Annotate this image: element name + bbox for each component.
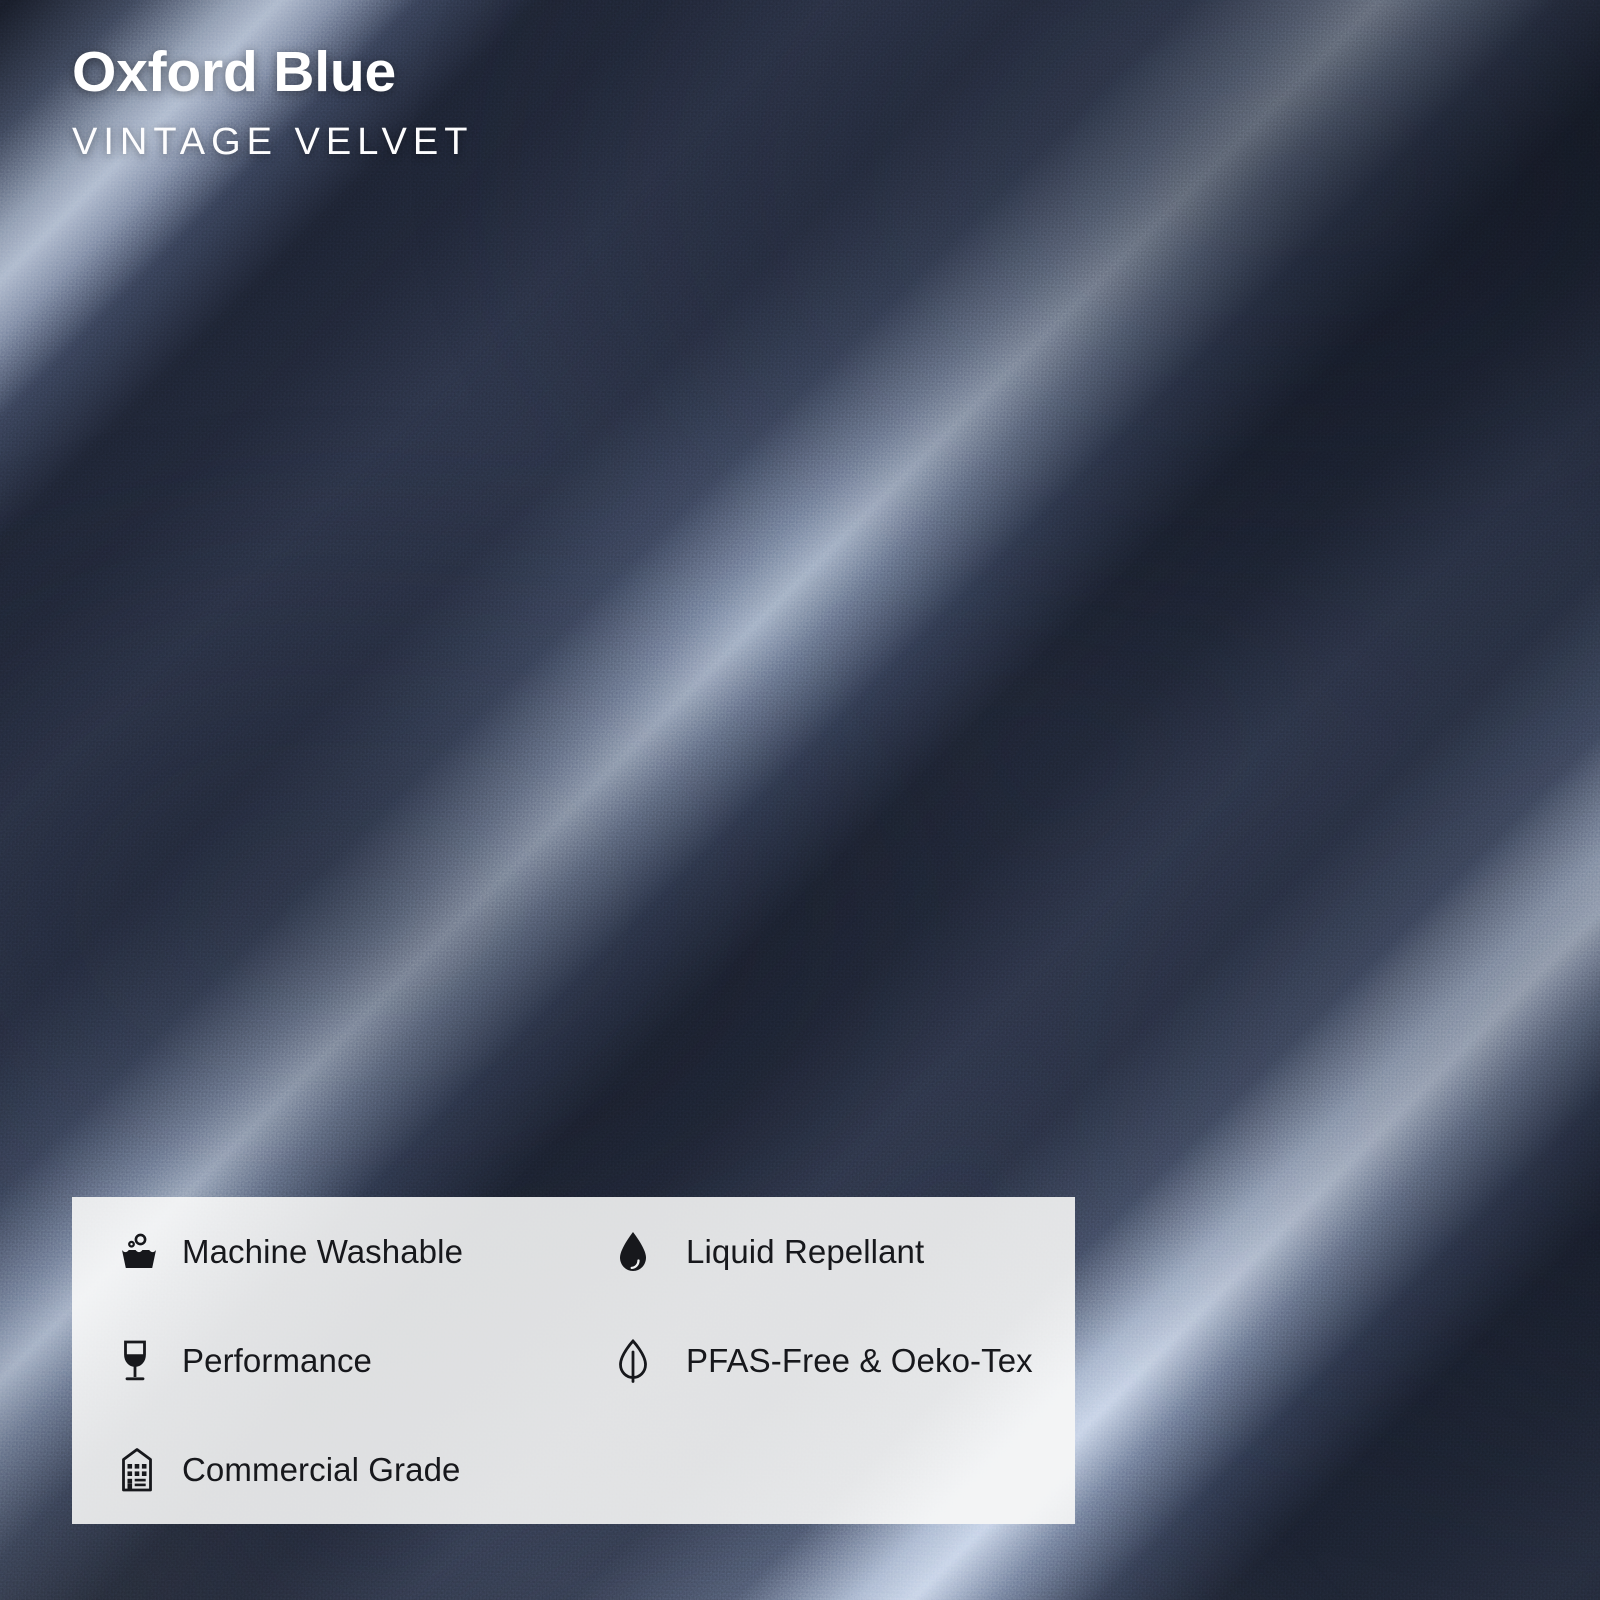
feature-panel: Machine Washable Liquid Repellant: [72, 1197, 1075, 1524]
feature-label: Performance: [182, 1342, 372, 1380]
feature-label: Liquid Repellant: [686, 1233, 924, 1271]
feature-pfas-free-oeko-tex: PFAS-Free & Oeko-Tex: [616, 1306, 1075, 1415]
feature-slot-empty: [616, 1415, 1075, 1524]
header-block: Oxford Blue VINTAGE VELVET: [72, 44, 473, 161]
leaf-icon: [616, 1334, 686, 1388]
feature-label: PFAS-Free & Oeko-Tex: [686, 1342, 1033, 1380]
feature-label: Machine Washable: [182, 1233, 463, 1271]
water-droplet-icon: [616, 1225, 686, 1279]
wine-glass-icon: [118, 1334, 182, 1388]
feature-commercial-grade: Commercial Grade: [118, 1415, 616, 1524]
feature-liquid-repellant: Liquid Repellant: [616, 1197, 1075, 1306]
washing-tub-icon: [118, 1225, 182, 1279]
page-title: Oxford Blue: [72, 44, 473, 101]
page-subtitle: VINTAGE VELVET: [72, 123, 473, 161]
feature-performance: Performance: [118, 1306, 616, 1415]
feature-machine-washable: Machine Washable: [118, 1197, 616, 1306]
fabric-swatch-card: Oxford Blue VINTAGE VELVET Machine Washa…: [0, 0, 1600, 1600]
feature-label: Commercial Grade: [182, 1451, 461, 1489]
building-icon: [118, 1443, 182, 1497]
